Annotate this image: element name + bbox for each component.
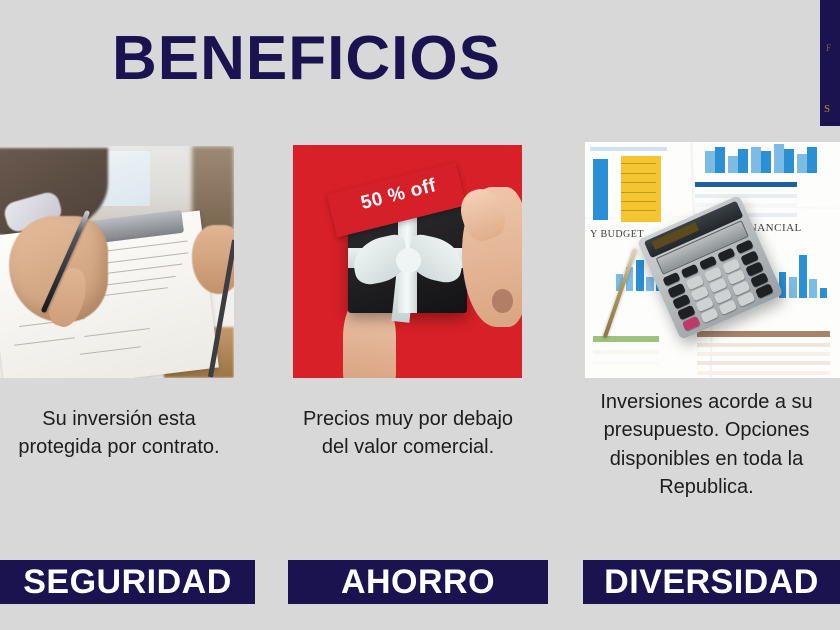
table-header-row xyxy=(697,331,830,337)
table-text-line xyxy=(621,201,657,202)
tattoo-mark xyxy=(492,289,513,312)
bar xyxy=(789,277,797,298)
table-header-row xyxy=(590,147,667,151)
banner-ahorro-label: AHORRO xyxy=(341,565,495,599)
caption-ahorro: Precios muy por debajo del valor comerci… xyxy=(290,405,526,462)
table-row xyxy=(697,361,830,365)
photo-3-scene: Y BUDGET FINANCIAL xyxy=(585,142,840,378)
panel-glyph-secondary: F xyxy=(826,44,831,53)
gift-discount-photo: 50 % off xyxy=(293,145,522,378)
photo-1-scene: AGREEMENT xyxy=(0,146,234,378)
photo-2-scene: 50 % off xyxy=(293,145,522,378)
bar xyxy=(636,260,644,291)
table-row xyxy=(697,343,830,347)
highlight-column xyxy=(621,156,662,222)
banner-ahorro: AHORRO xyxy=(288,560,548,604)
bar xyxy=(799,255,807,297)
page-title: BENEFICIOS xyxy=(112,28,501,90)
bar xyxy=(761,151,771,172)
panel-glyph-primary: S xyxy=(824,104,830,115)
caption-seguridad: Su inversión esta protegida por contrato… xyxy=(0,405,238,462)
banner-seguridad: SEGURIDAD xyxy=(0,560,255,604)
caption-diversidad: Inversiones acorde a su presupuesto. Opc… xyxy=(573,388,840,502)
table-header-row xyxy=(695,182,797,187)
table-row xyxy=(593,350,659,354)
banner-diversidad-label: DIVERSIDAD xyxy=(604,565,819,599)
bar xyxy=(774,144,784,172)
budget-heading: Y BUDGET xyxy=(590,229,644,240)
bar xyxy=(809,279,817,298)
bar xyxy=(646,277,654,291)
table-text-line xyxy=(621,210,657,211)
table-text-line xyxy=(621,173,657,174)
bar xyxy=(705,151,715,172)
bar xyxy=(728,156,738,173)
table-text-line xyxy=(621,182,657,183)
navy-accent-panel: F S xyxy=(820,0,840,126)
contract-signing-photo: AGREEMENT xyxy=(0,146,234,378)
bar xyxy=(807,147,817,173)
table-text-line xyxy=(621,163,657,164)
bar xyxy=(751,147,761,173)
table-row xyxy=(593,361,659,365)
banner-seguridad-label: SEGURIDAD xyxy=(23,565,232,599)
table-row xyxy=(697,371,830,375)
financial-reports-photo: Y BUDGET FINANCIAL xyxy=(585,142,840,378)
banner-diversidad: DIVERSIDAD xyxy=(583,560,840,604)
bar xyxy=(593,159,608,220)
table-row xyxy=(695,194,797,198)
table-row xyxy=(697,352,830,356)
bar xyxy=(738,149,748,173)
bar xyxy=(797,154,807,173)
slide-canvas: F S BENEFICIOS AGREEMENT xyxy=(0,0,840,630)
table-text-line xyxy=(621,192,657,193)
bar xyxy=(784,149,794,173)
bar xyxy=(820,288,828,297)
bar xyxy=(715,147,725,173)
